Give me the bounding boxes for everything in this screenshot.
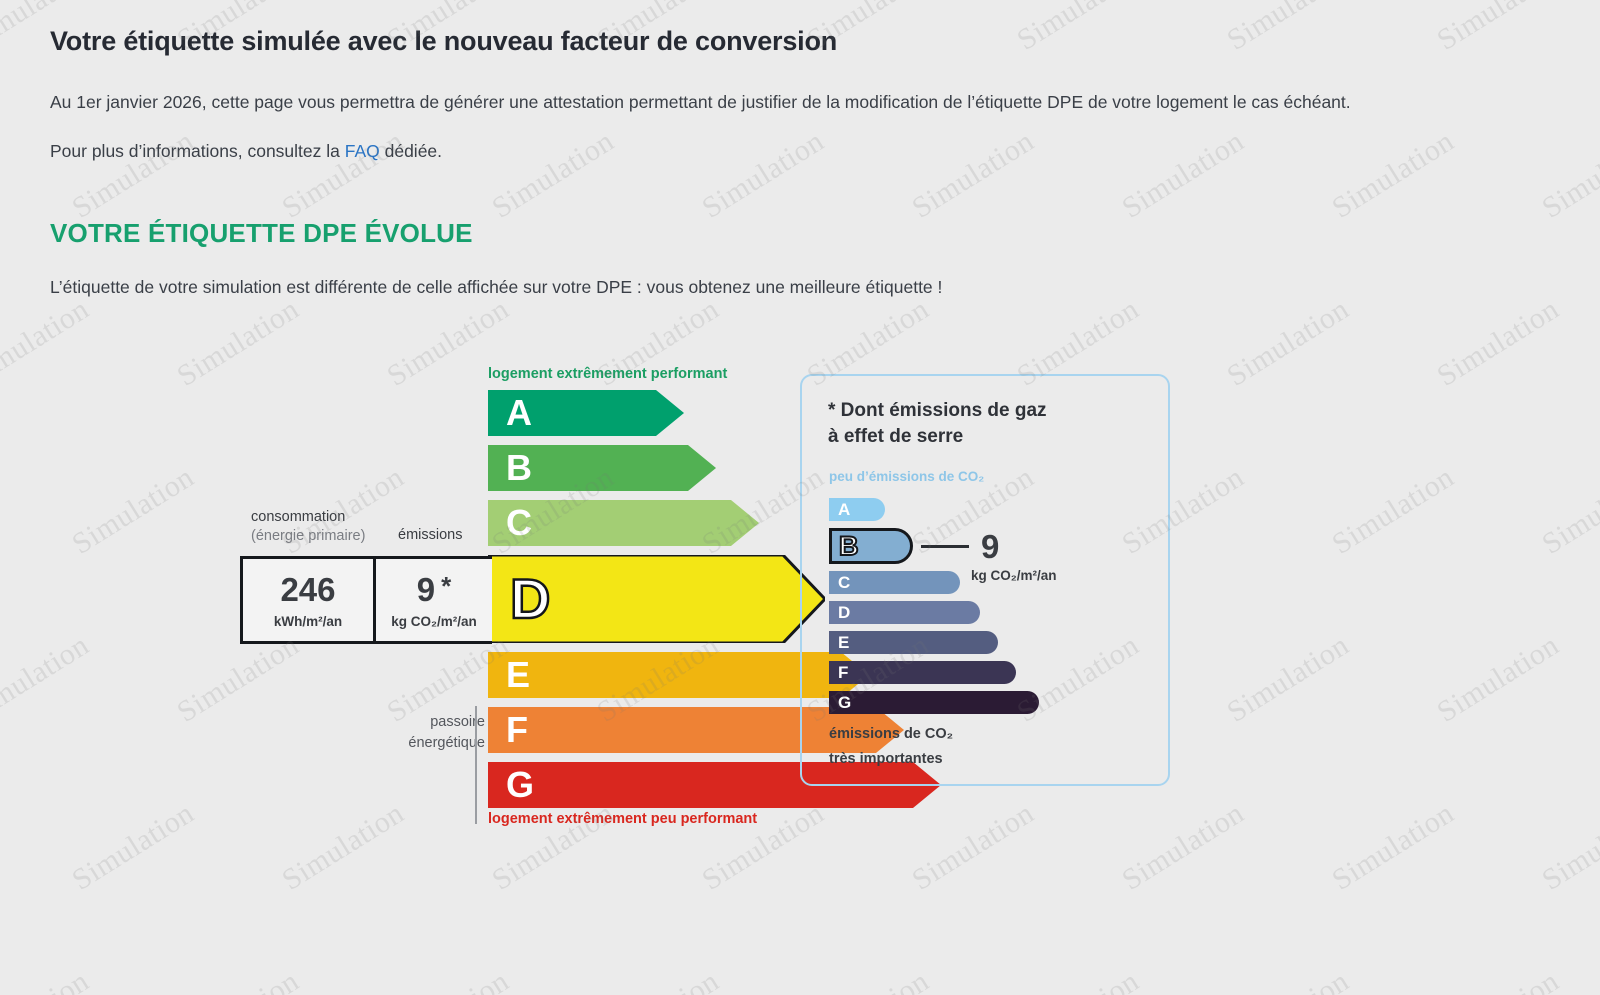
- energy-class-letter-E: E: [506, 657, 530, 693]
- emissions-header: émissions: [398, 526, 462, 545]
- faq-paragraph: Pour plus d’informations, consultez la F…: [50, 138, 1530, 165]
- co2-class-letter-G: G: [838, 694, 851, 711]
- co2-title-line1: * Dont émissions de gaz: [828, 398, 1047, 424]
- co2-bar-A: A: [829, 498, 885, 521]
- co2-caption-bottom-line1: émissions de CO₂: [829, 722, 953, 747]
- consumption-header: consommation (énergie primaire): [251, 508, 365, 545]
- passoire-line1: passoire: [355, 712, 485, 733]
- consumption-value: 246: [280, 573, 335, 606]
- section-heading: VOTRE ÉTIQUETTE DPE ÉVOLUE: [50, 218, 1550, 249]
- co2-bar-F: F: [829, 661, 1016, 684]
- energy-class-letter-D: D: [510, 571, 550, 627]
- co2-class-letter-C: C: [838, 574, 850, 591]
- energy-class-letter-G: G: [506, 767, 534, 803]
- value-box: 246 kWh/m²/an 9* kg CO₂/m²/an: [240, 556, 492, 644]
- emissions-cell: 9* kg CO₂/m²/an: [376, 559, 492, 641]
- co2-bar-E: E: [829, 631, 998, 654]
- dpe-labels-container: logement extrêmement performant ABCDEFG …: [50, 360, 1550, 870]
- co2-value: 9: [981, 530, 999, 563]
- consumption-unit: kWh/m²/an: [274, 614, 342, 629]
- co2-class-letter-B: B: [839, 533, 859, 560]
- co2-class-letter-A: A: [838, 501, 850, 518]
- watermark-text: Simulation: [0, 964, 95, 995]
- energy-class-row-A[interactable]: A: [488, 390, 684, 436]
- energy-class-letter-C: C: [506, 505, 532, 541]
- co2-caption-top: peu d’émissions de CO₂: [829, 469, 984, 484]
- watermark-text: Simulation: [591, 964, 725, 995]
- co2-class-row-B[interactable]: B: [829, 528, 913, 564]
- passoire-bracket-line: [475, 706, 477, 824]
- energy-bar-A: A: [488, 390, 684, 436]
- co2-bar-B: B: [829, 528, 913, 564]
- energy-caption-top: logement extrêmement performant: [488, 366, 727, 382]
- passoire-energetique-label: passoire énergétique: [355, 712, 485, 753]
- co2-bar-D: D: [829, 601, 980, 624]
- co2-class-row-E[interactable]: E: [829, 631, 998, 654]
- watermark-text: Simulation: [171, 964, 305, 995]
- co2-bar-C: C: [829, 571, 960, 594]
- co2-class-row-F[interactable]: F: [829, 661, 1016, 684]
- energy-class-letter-A: A: [506, 395, 532, 431]
- emissions-value-wrap: 9*: [417, 573, 451, 606]
- energy-class-row-C[interactable]: C: [488, 500, 759, 546]
- co2-unit: kg CO₂/m²/an: [971, 568, 1057, 583]
- co2-class-row-A[interactable]: A: [829, 498, 885, 521]
- watermark-text: Simulation: [1431, 964, 1565, 995]
- co2-connector-line: [921, 545, 969, 548]
- page-title: Votre étiquette simulée avec le nouveau …: [50, 26, 1550, 57]
- co2-title-line2: à effet de serre: [828, 424, 1047, 450]
- co2-bar-G: G: [829, 691, 1039, 714]
- co2-class-letter-F: F: [838, 664, 848, 681]
- energy-class-letter-B: B: [506, 450, 532, 486]
- faq-text-after: dédiée.: [380, 141, 442, 161]
- passoire-line2: énergétique: [355, 733, 485, 754]
- emissions-value: 9: [417, 571, 435, 608]
- energy-caption-bottom: logement extrêmement peu performant: [488, 811, 757, 827]
- co2-class-letter-D: D: [838, 604, 850, 621]
- consumption-header-line1: consommation: [251, 508, 365, 527]
- watermark-text: Simulation: [1011, 964, 1145, 995]
- section-subtitle: L’étiquette de votre simulation est diff…: [50, 277, 1550, 298]
- consumption-header-line2: (énergie primaire): [251, 527, 365, 546]
- watermark-text: Simulation: [1221, 964, 1355, 995]
- faq-text-before: Pour plus d’informations, consultez la: [50, 141, 345, 161]
- energy-class-letter-F: F: [506, 712, 528, 748]
- co2-class-letter-E: E: [838, 634, 849, 651]
- faq-link[interactable]: FAQ: [345, 141, 380, 161]
- energy-bar-D: D: [488, 555, 825, 643]
- watermark-text: Simulation: [381, 964, 515, 995]
- energy-class-row-B[interactable]: B: [488, 445, 716, 491]
- co2-class-row-G[interactable]: G: [829, 691, 1039, 714]
- emissions-unit: kg CO₂/m²/an: [391, 614, 477, 629]
- consumption-cell: 246 kWh/m²/an: [243, 559, 376, 641]
- energy-bar-C: C: [488, 500, 759, 546]
- emissions-star: *: [441, 571, 451, 601]
- co2-caption-bottom: émissions de CO₂ très importantes: [829, 722, 953, 771]
- page-content: Votre étiquette simulée avec le nouveau …: [0, 0, 1600, 870]
- co2-panel-title: * Dont émissions de gaz à effet de serre: [828, 398, 1047, 450]
- co2-class-row-C[interactable]: C: [829, 571, 960, 594]
- intro-paragraph: Au 1er janvier 2026, cette page vous per…: [50, 89, 1530, 116]
- co2-panel: * Dont émissions de gaz à effet de serre…: [800, 374, 1170, 786]
- energy-bar-B: B: [488, 445, 716, 491]
- co2-class-row-D[interactable]: D: [829, 601, 980, 624]
- energy-class-row-D[interactable]: D: [488, 555, 825, 643]
- watermark-text: Simulation: [801, 964, 935, 995]
- co2-caption-bottom-line2: très importantes: [829, 747, 953, 772]
